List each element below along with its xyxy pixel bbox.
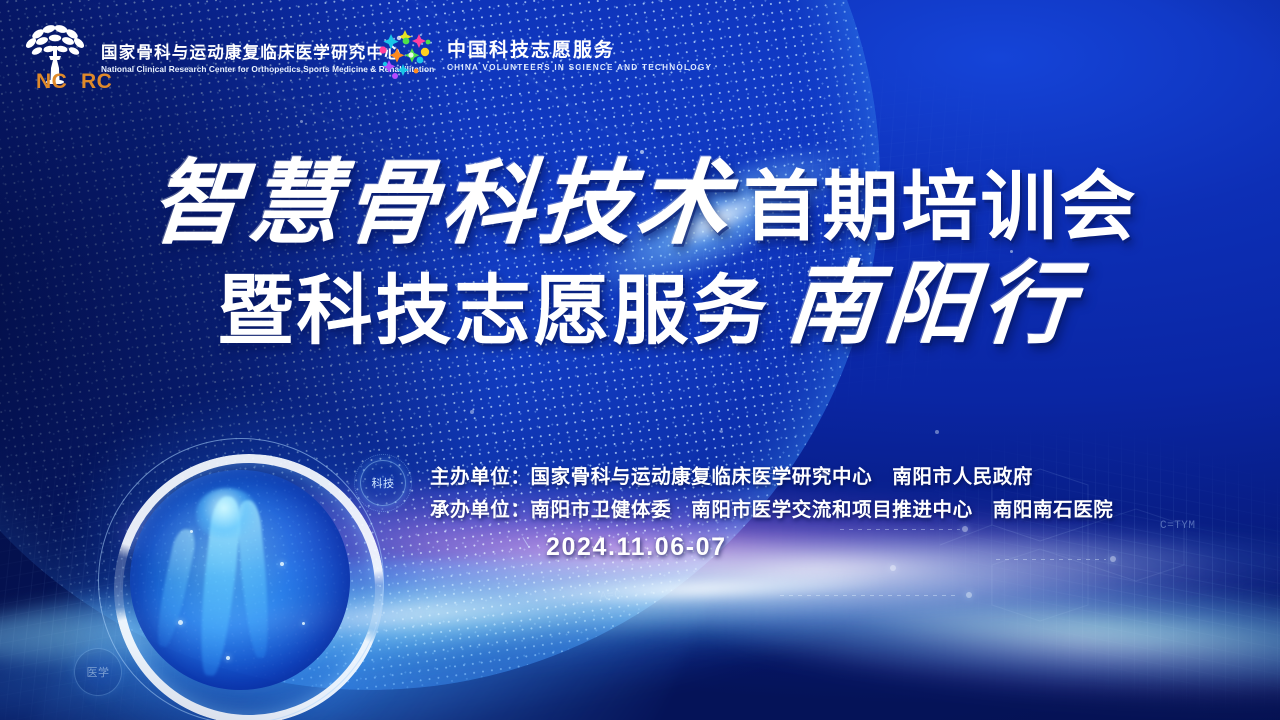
conference-banner: C=TYM A=C 科技 医学 bbox=[0, 0, 1280, 720]
title-line1-song: 首期培训会 bbox=[744, 170, 1139, 252]
title-line-1: 智慧骨科技术 首期培训会 bbox=[10, 158, 1280, 252]
host-line: 主办单位：国家骨科与运动康复临床医学研究中心 南阳市人民政府 bbox=[430, 468, 1113, 488]
cvst-text-block: 中国科技志愿服务 CHINA VOLUNTEERS IN SCIENCE AND… bbox=[447, 33, 712, 73]
organizer-line: 承办单位：南阳市卫健体委 南阳市医学交流和项目推进中心 南阳南石医院 bbox=[430, 501, 1113, 521]
cvst-name-cn: 中国科技志愿服务 bbox=[447, 41, 712, 61]
title-line2-brush: 南阳行 bbox=[782, 260, 1084, 352]
title-line1-brush: 智慧骨科技术 bbox=[147, 158, 737, 252]
ncrc-logo: NC RC 国家骨科与运动康复临床医学研究中心 National Clinica… bbox=[18, 22, 434, 84]
vignette-overlay bbox=[0, 0, 1280, 720]
ncrc-tree-logo-icon bbox=[18, 22, 92, 84]
cvst-logo: 中国科技志愿服务 CHINA VOLUNTEERS IN SCIENCE AND… bbox=[375, 24, 712, 82]
cvst-name-en: CHINA VOLUNTEERS IN SCIENCE AND TECHNOLO… bbox=[447, 64, 712, 73]
page-title: 智慧骨科技术 首期培训会 暨科技志愿服务 南阳行 bbox=[0, 158, 1280, 352]
event-date: 2024.11.06-07 bbox=[546, 533, 1113, 562]
title-line-2: 暨科技志愿服务 南阳行 bbox=[18, 260, 1280, 352]
volunteer-brain-logo-icon bbox=[375, 24, 437, 82]
header-logos: NC RC 国家骨科与运动康复临床医学研究中心 National Clinica… bbox=[0, 0, 1280, 100]
tick-mark bbox=[522, 537, 529, 548]
event-info: 主办单位：国家骨科与运动康复临床医学研究中心 南阳市人民政府 承办单位：南阳市卫… bbox=[430, 468, 1113, 562]
title-line2-song: 暨科技志愿服务 bbox=[218, 274, 771, 352]
